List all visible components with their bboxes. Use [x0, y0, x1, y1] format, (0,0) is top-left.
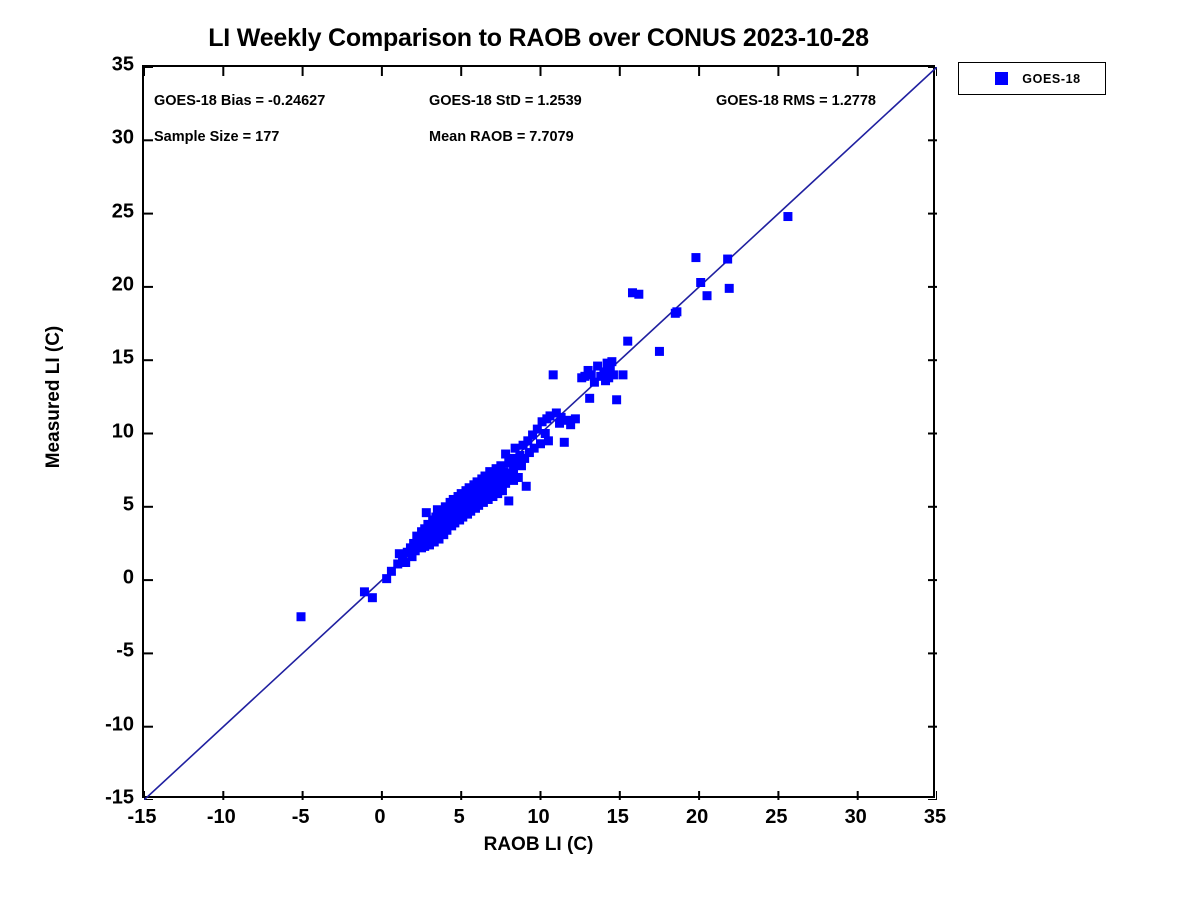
scatter-point — [607, 357, 616, 366]
x-tick-label: 0 — [374, 806, 385, 829]
scatter-point — [368, 593, 377, 602]
x-tick-label: 20 — [686, 806, 708, 829]
y-tick-label: 15 — [112, 347, 134, 370]
scatter-point — [297, 612, 306, 621]
x-tick-label: 25 — [765, 806, 787, 829]
scatter-point — [696, 278, 705, 287]
scatter-point — [612, 395, 621, 404]
x-tick-label: 35 — [924, 806, 946, 829]
x-tick-label: -10 — [207, 806, 236, 829]
scatter-points-group — [297, 212, 793, 621]
scatter-point — [618, 370, 627, 379]
x-tick-label: 30 — [845, 806, 867, 829]
y-tick-label: -5 — [116, 640, 134, 663]
x-tick-label: 10 — [527, 806, 549, 829]
x-axis-title: RAOB LI (C) — [142, 834, 935, 856]
y-tick-label: 20 — [112, 273, 134, 296]
y-tick-label: 0 — [123, 567, 134, 590]
scatter-point — [672, 307, 681, 316]
annotation-std: GOES-18 StD = 1.2539 — [429, 93, 582, 109]
scatter-point — [723, 255, 732, 264]
y-axis-tick-labels: -15-10-505101520253035 — [60, 65, 134, 798]
legend[interactable]: GOES-18 — [958, 62, 1106, 95]
legend-swatch-goes18-icon — [995, 72, 1008, 85]
scatter-point — [549, 370, 558, 379]
scatter-point — [655, 347, 664, 356]
y-tick-label: 35 — [112, 54, 134, 77]
legend-label-goes18: GOES-18 — [1008, 72, 1105, 86]
x-tick-label: 15 — [607, 806, 629, 829]
annotation-mean-raob: Mean RAOB = 7.7079 — [429, 129, 574, 145]
y-tick-label: 10 — [112, 420, 134, 443]
page-title: LI Weekly Comparison to RAOB over CONUS … — [142, 24, 935, 53]
y-tick-label: -10 — [105, 713, 134, 736]
y-tick-label: 30 — [112, 127, 134, 150]
annotation-rms: GOES-18 RMS = 1.2778 — [716, 93, 876, 109]
scatter-point — [522, 482, 531, 491]
scatter-point — [504, 496, 513, 505]
annotation-bias: GOES-18 Bias = -0.24627 — [154, 93, 325, 109]
scatter-point — [623, 337, 632, 346]
scatter-point — [609, 370, 618, 379]
x-tick-label: -5 — [292, 806, 310, 829]
y-tick-label: 25 — [112, 200, 134, 223]
scatter-point — [514, 473, 523, 482]
scatter-point — [544, 436, 553, 445]
scatter-point — [536, 439, 545, 448]
scatter-point — [703, 291, 712, 300]
y-axis-title: Measured LI (C) — [43, 297, 65, 497]
x-tick-label: -15 — [128, 806, 157, 829]
x-axis-tick-labels: -15-10-505101520253035 — [142, 806, 935, 836]
plot-area: GOES-18 Bias = -0.24627GOES-18 StD = 1.2… — [142, 65, 935, 798]
annotation-sample-size: Sample Size = 177 — [154, 129, 279, 145]
scatter-point — [725, 284, 734, 293]
x-tick-label: 5 — [454, 806, 465, 829]
scatter-point — [585, 394, 594, 403]
y-tick-label: 5 — [123, 493, 134, 516]
chart-figure: LI Weekly Comparison to RAOB over CONUS … — [0, 0, 1200, 900]
scatter-point — [360, 587, 369, 596]
scatter-point — [560, 438, 569, 447]
scatter-point — [783, 212, 792, 221]
scatter-point — [691, 253, 700, 262]
scatter-point — [634, 290, 643, 299]
plot-canvas — [144, 67, 937, 800]
scatter-point — [571, 414, 580, 423]
